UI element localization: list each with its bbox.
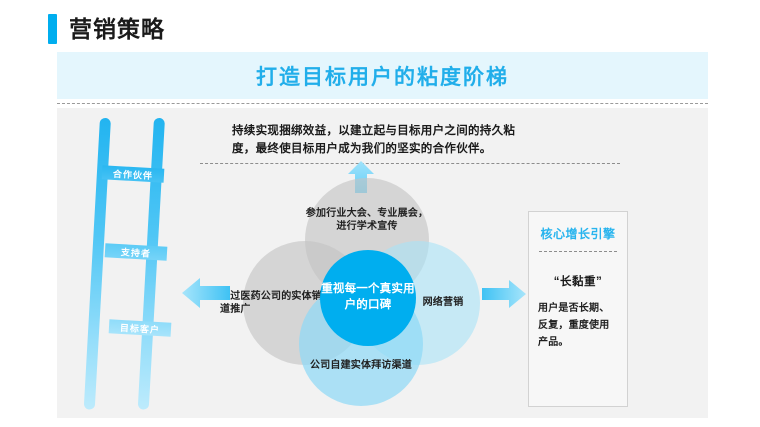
slide-header: 营销策略	[48, 14, 165, 44]
ladder-rail-right	[138, 118, 165, 410]
venn-label-bottom: 公司自建实体拜访渠道	[310, 359, 412, 373]
venn-circle-center: 重视每一个真实用户的口碑	[320, 250, 416, 346]
banner-title: 打造目标用户的粘度阶梯	[256, 61, 509, 91]
intro-paragraph: 持续实现捆绑效益，以建立起与目标用户之间的持久粘度，最终使目标用户成为我们的坚实…	[232, 123, 532, 159]
title-banner: 打造目标用户的粘度阶梯	[57, 52, 708, 99]
ladder-rung-target-customer: 目标客户	[109, 319, 172, 336]
header-accent-bar	[48, 14, 57, 44]
flow-divider	[200, 163, 620, 164]
arrow-right-icon	[482, 280, 526, 308]
engine-card-title: 核心增长引擎	[537, 225, 619, 242]
venn-label-top: 参加行业大会、专业展会，进行学术宣传	[305, 207, 429, 234]
engine-card-keyword: “长黏重”	[537, 273, 619, 289]
ladder-rung-supporter: 支持者	[105, 243, 168, 260]
ladder-rail-left	[84, 118, 111, 410]
venn-label-right: 网络营销	[423, 296, 464, 310]
ladder-graphic: 合作伙伴 支持者 目标客户	[78, 118, 188, 410]
engine-card-description: 用户是否长期、反复，重度使用产品。	[537, 300, 619, 351]
ladder-rung-partner: 合作伙伴	[102, 165, 165, 182]
banner-divider	[57, 103, 708, 104]
engine-card-divider	[539, 251, 617, 252]
page-title: 营销策略	[69, 18, 165, 41]
arrow-left-icon	[182, 278, 230, 308]
core-growth-engine-card: 核心增长引擎 “长黏重” 用户是否长期、反复，重度使用产品。	[528, 211, 628, 407]
venn-diagram: 参加行业大会、专业展会，进行学术宣传 通过医药公司的实体销售渠道推广 网络营销 …	[243, 178, 480, 406]
venn-label-center: 重视每一个真实用户的口碑	[320, 282, 416, 313]
